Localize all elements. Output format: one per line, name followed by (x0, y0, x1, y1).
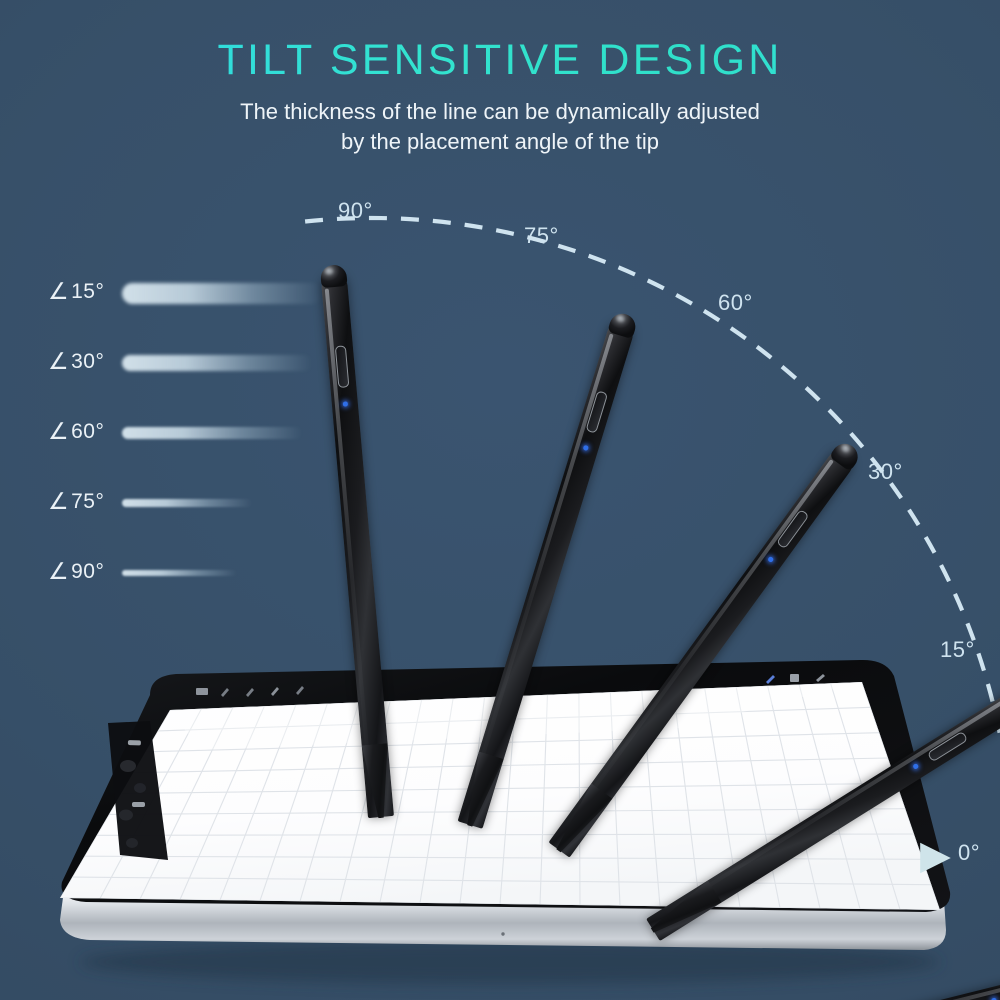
legend-angle-label: ∠15° (48, 280, 104, 304)
arc-label-15: 15° (940, 637, 975, 663)
subtitle-line-2: by the placement angle of the tip (0, 127, 1000, 157)
angle-symbol-icon: ∠ (48, 561, 69, 582)
arc-label-60: 60° (718, 290, 753, 316)
subtitle-line-1: The thickness of the line can be dynamic… (0, 97, 1000, 127)
arc-label-75: 75° (524, 223, 559, 249)
legend-row-15: ∠15° (40, 280, 370, 350)
legend-angle-value: 60° (71, 420, 104, 443)
legend-angle-label: ∠30° (48, 350, 104, 374)
arc-label-90: 90° (338, 198, 373, 224)
stylus-led-indicator (343, 401, 348, 406)
thickness-stroke-sample (122, 427, 302, 439)
legend-angle-value: 30° (71, 350, 104, 373)
stylus-led-indicator (913, 763, 919, 769)
tilt-thickness-legend: ∠15°∠30°∠60°∠75°∠90° (40, 280, 370, 630)
tablet-port-dot (501, 932, 504, 935)
stylus-led-indicator (583, 445, 589, 451)
thickness-stroke-sample (122, 570, 237, 576)
angle-symbol-icon: ∠ (48, 421, 69, 442)
angle-symbol-icon: ∠ (48, 351, 69, 372)
legend-angle-value: 90° (71, 560, 104, 583)
legend-row-75: ∠75° (40, 490, 370, 560)
page-title: TILT SENSITIVE DESIGN (0, 36, 1000, 85)
arc-label-30: 30° (868, 459, 903, 485)
product-feature-image: TILT SENSITIVE DESIGN The thickness of t… (0, 0, 1000, 1000)
stylus-cap (320, 264, 348, 288)
legend-angle-label: ∠60° (48, 420, 104, 444)
angle-symbol-icon: ∠ (48, 281, 69, 302)
stylus-cap (829, 439, 863, 472)
layers-icon[interactable] (790, 674, 799, 682)
legend-row-90: ∠90° (40, 560, 370, 630)
legend-row-30: ∠30° (40, 350, 370, 420)
legend-angle-value: 15° (71, 280, 104, 303)
stylus-led-indicator (768, 556, 774, 562)
stylus-power-button[interactable] (335, 345, 350, 388)
legend-angle-value: 75° (71, 490, 104, 513)
menu-icon[interactable] (196, 688, 208, 695)
thickness-stroke-sample (122, 499, 252, 507)
legend-angle-label: ∠90° (48, 560, 104, 584)
legend-row-60: ∠60° (40, 420, 370, 490)
thickness-stroke-sample (122, 283, 322, 304)
page-subtitle: The thickness of the line can be dynamic… (0, 97, 1000, 157)
arc-label-0: 0° (958, 840, 980, 866)
thickness-stroke-sample (122, 355, 312, 371)
legend-angle-label: ∠75° (48, 490, 104, 514)
angle-symbol-icon: ∠ (48, 491, 69, 512)
